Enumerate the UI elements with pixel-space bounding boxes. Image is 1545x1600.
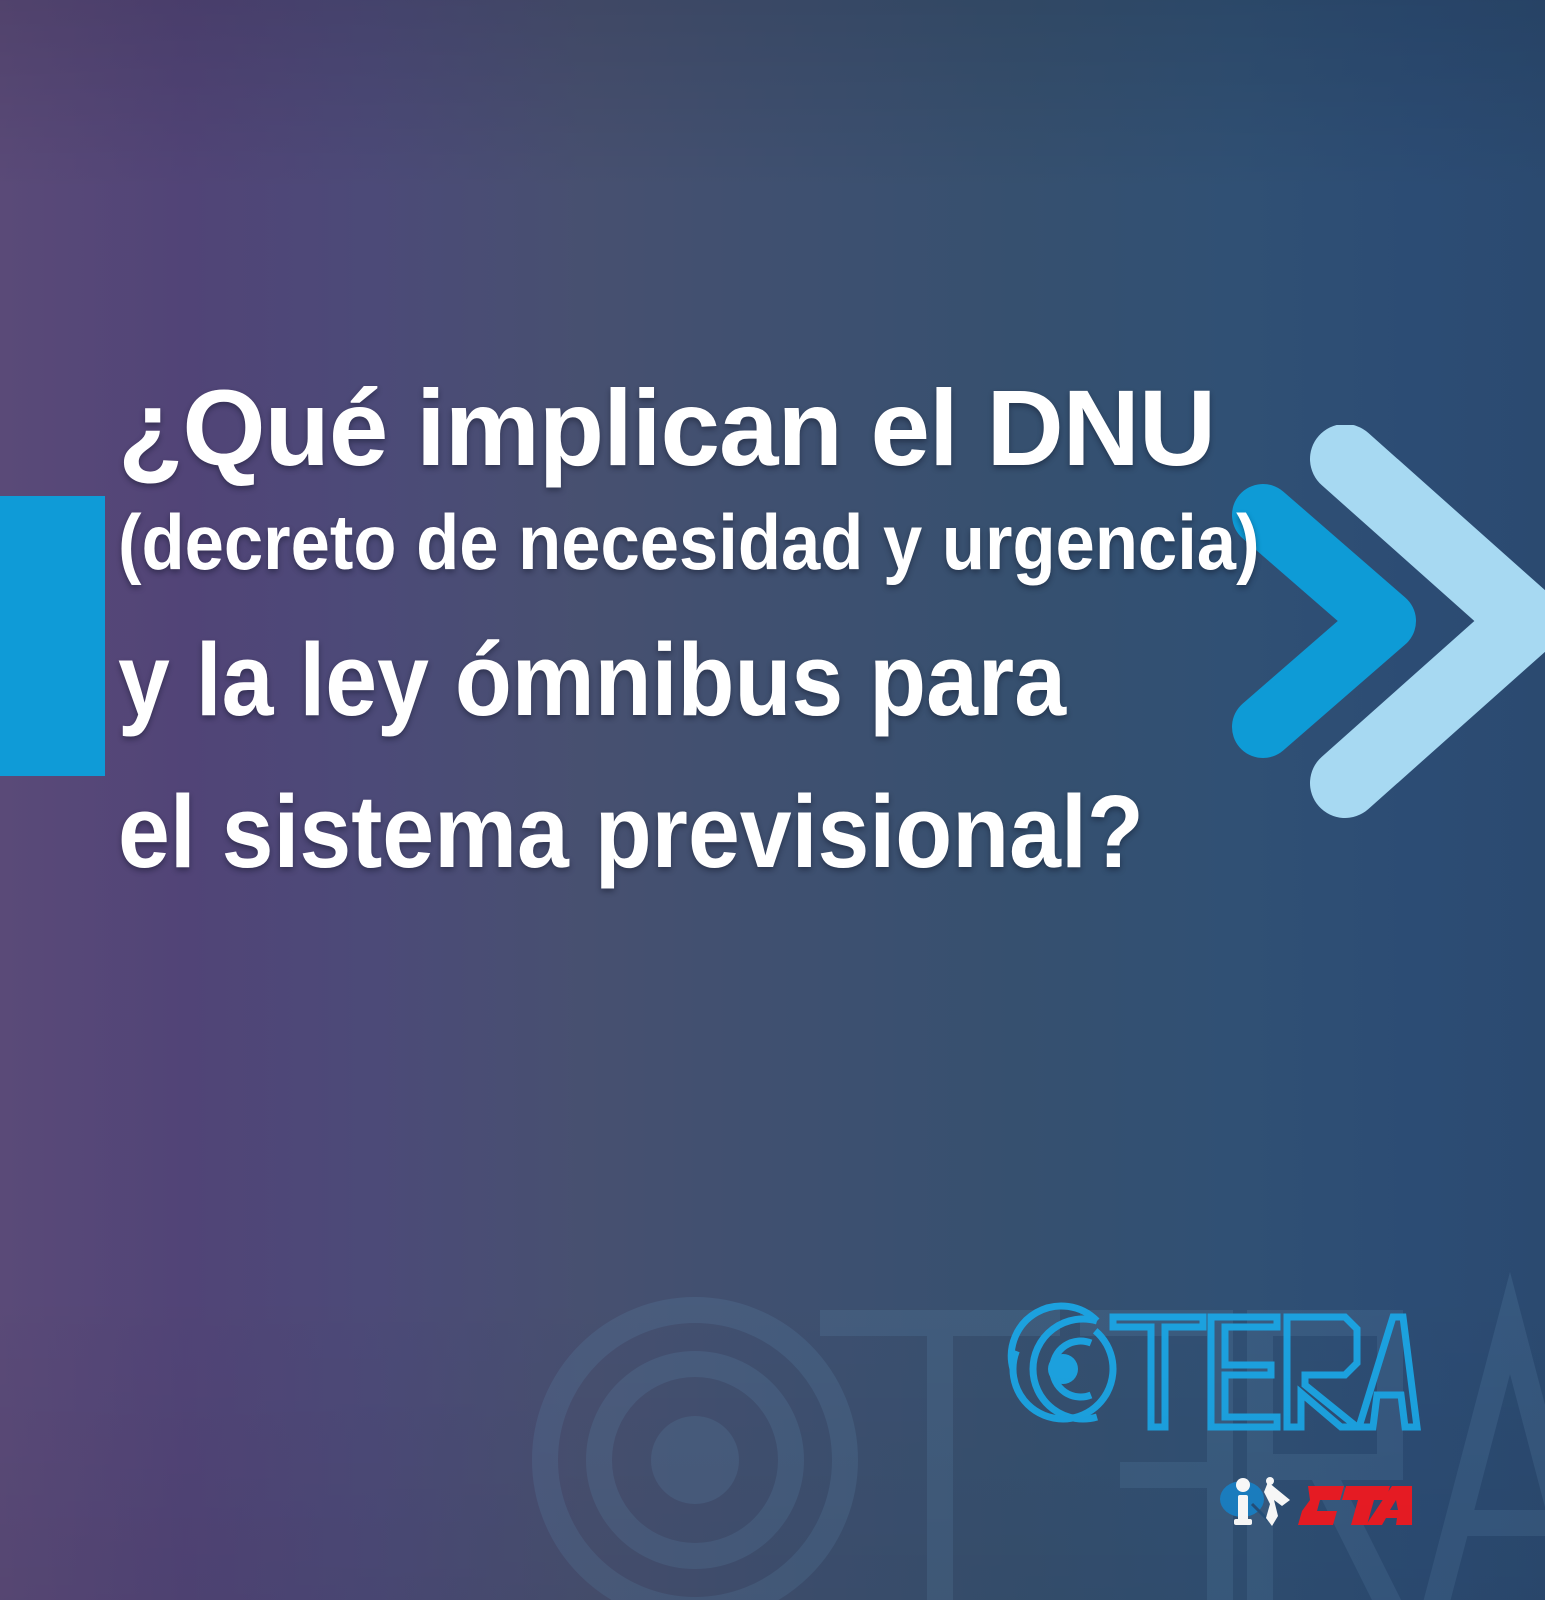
poster-canvas: ¿Qué implican el DNU (decreto de necesid… xyxy=(0,0,1545,1600)
headline-line-2: (decreto de necesidad y urgencia) xyxy=(118,492,1285,592)
accent-block-left xyxy=(0,496,105,776)
headline-line-3: y la ley ómnibus para xyxy=(118,620,1285,740)
cta-logo xyxy=(1212,1474,1412,1536)
headline-line-1: ¿Qué implican el DNU xyxy=(118,372,1395,484)
cta-wordmark xyxy=(1298,1486,1412,1525)
cta-dynamic-figure xyxy=(1264,1477,1290,1526)
ctera-logo xyxy=(1005,1297,1423,1442)
headline-block: ¿Qué implican el DNU (decreto de necesid… xyxy=(118,372,1408,892)
headline-line-4: el sistema previsional? xyxy=(118,772,1285,892)
